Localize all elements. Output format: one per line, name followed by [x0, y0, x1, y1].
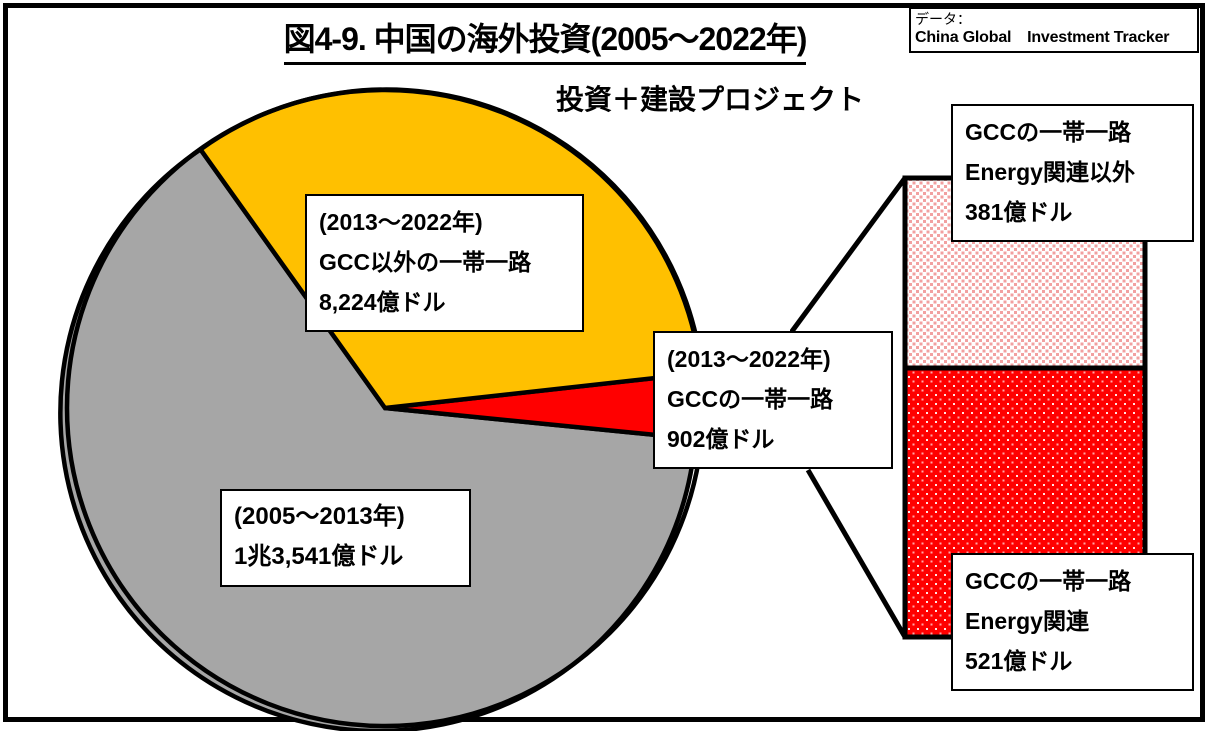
leader-line-top [790, 178, 905, 334]
chart-canvas: 図4-9. 中国の海外投資(2005〜2022年) データ： China Glo… [0, 0, 1214, 731]
callout-line-1: (2013〜2022年) [319, 202, 572, 242]
callout-energy[interactable]: GCCの一帯一路 Energy関連 521億ドル [951, 553, 1194, 691]
callout-line-3: 381億ドル [965, 192, 1182, 232]
callout-line-3: 902億ドル [667, 419, 881, 459]
page-title-text: 図4-9. 中国の海外投資(2005〜2022年) [284, 14, 807, 65]
callout-line-1: (2005〜2013年) [234, 497, 459, 537]
callout-2005-2013[interactable]: (2005〜2013年) 1兆3,541億ドル [220, 489, 471, 587]
callout-line-2: GCC以外の一帯一路 [319, 242, 572, 282]
callout-line-3: 8,224億ドル [319, 282, 572, 322]
data-source-box: データ： China Global Investment Tracker [909, 7, 1199, 53]
data-source-label: データ： [915, 11, 1194, 28]
callout-gcc-belt-road[interactable]: (2013〜2022年) GCCの一帯一路 902億ドル [653, 331, 893, 469]
leader-line-bottom [808, 470, 905, 637]
callout-line-1: GCCの一帯一路 [965, 112, 1182, 152]
callout-line-1: GCCの一帯一路 [965, 561, 1182, 601]
pie-chart [55, 78, 725, 731]
callout-line-2: Energy関連以外 [965, 152, 1182, 192]
callout-non-energy[interactable]: GCCの一帯一路 Energy関連以外 381億ドル [951, 104, 1194, 242]
callout-line-3: 521億ドル [965, 641, 1182, 681]
callout-gcc-excluded[interactable]: (2013〜2022年) GCC以外の一帯一路 8,224億ドル [305, 194, 584, 332]
callout-line-2: GCCの一帯一路 [667, 379, 881, 419]
data-source-name: China Global Investment Tracker [915, 28, 1194, 48]
callout-line-2: 1兆3,541億ドル [234, 537, 459, 577]
callout-line-1: (2013〜2022年) [667, 339, 881, 379]
callout-line-2: Energy関連 [965, 601, 1182, 641]
